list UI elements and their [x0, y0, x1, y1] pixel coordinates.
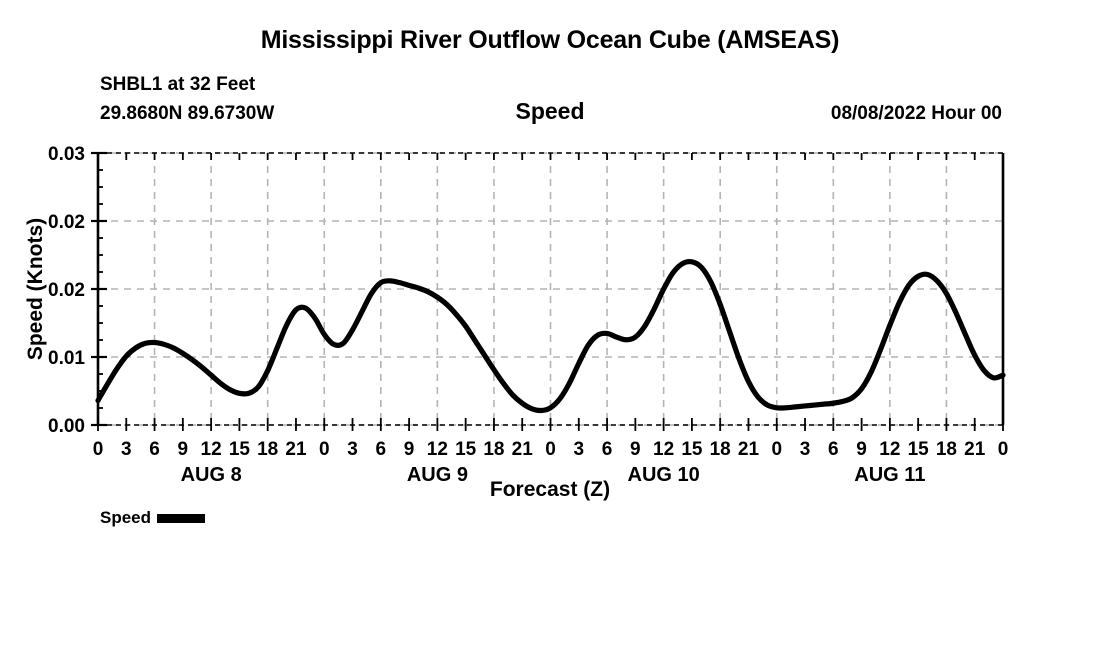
- x-tick-label: 15: [455, 439, 477, 460]
- x-tick-label: 9: [630, 439, 641, 460]
- x-tick-label: 3: [121, 439, 132, 460]
- x-tick-label: 12: [201, 439, 222, 460]
- x-tick-label: 9: [404, 439, 415, 460]
- x-tick-label: 0: [319, 439, 330, 460]
- x-tick-label: 6: [149, 439, 160, 460]
- y-tick-label: 0.02: [48, 212, 85, 233]
- x-tick-label: 21: [964, 439, 986, 460]
- x-tick-label: 15: [229, 439, 251, 460]
- x-tick-label: 21: [285, 439, 307, 460]
- x-tick-label: 0: [771, 439, 782, 460]
- x-tick-label: 0: [93, 439, 104, 460]
- x-tick-label: 3: [573, 439, 584, 460]
- y-axis-title: Speed (Knots): [24, 218, 47, 360]
- x-tick-label: 18: [483, 439, 504, 460]
- x-tick-label: 3: [347, 439, 358, 460]
- x-tick-label: 3: [800, 439, 811, 460]
- x-tick-label: 6: [602, 439, 613, 460]
- x-tick-label: 6: [828, 439, 839, 460]
- x-tick-label: 6: [376, 439, 387, 460]
- y-tick-labels: 0.000.010.020.020.03: [48, 144, 85, 437]
- x-tick-label: 21: [512, 439, 534, 460]
- x-tick-label: 18: [257, 439, 278, 460]
- legend-label-speed: Speed: [100, 508, 151, 528]
- x-axis-title: Forecast (Z): [0, 478, 1100, 502]
- legend-swatch-speed: [157, 514, 205, 523]
- plot-area: 0.000.010.020.020.03 0369121518210369121…: [0, 0, 1100, 650]
- y-tick-label: 0.02: [48, 280, 85, 301]
- x-tick-label: 0: [998, 439, 1009, 460]
- x-tick-labels: 0369121518210369121518210369121518210369…: [93, 439, 1009, 460]
- x-tick-label: 15: [681, 439, 703, 460]
- chart-page: Mississippi River Outflow Ocean Cube (AM…: [0, 0, 1100, 650]
- x-tick-label: 12: [653, 439, 674, 460]
- x-tick-label: 21: [738, 439, 760, 460]
- x-tick-label: 9: [856, 439, 867, 460]
- y-tick-label: 0.00: [48, 416, 85, 437]
- x-tick-label: 12: [879, 439, 900, 460]
- chart-legend: Speed: [100, 508, 205, 528]
- x-tick-label: 0: [545, 439, 556, 460]
- x-tick-label: 18: [710, 439, 731, 460]
- y-tick-label: 0.01: [48, 348, 85, 369]
- x-tick-label: 9: [178, 439, 189, 460]
- speed-line-chart: 0.000.010.020.020.03 0369121518210369121…: [0, 0, 1100, 650]
- y-tick-label: 0.03: [48, 144, 85, 165]
- x-tick-label: 18: [936, 439, 957, 460]
- y-axis-title-text: Speed (Knots): [24, 218, 47, 360]
- x-tick-label: 12: [427, 439, 448, 460]
- x-tick-label: 15: [908, 439, 930, 460]
